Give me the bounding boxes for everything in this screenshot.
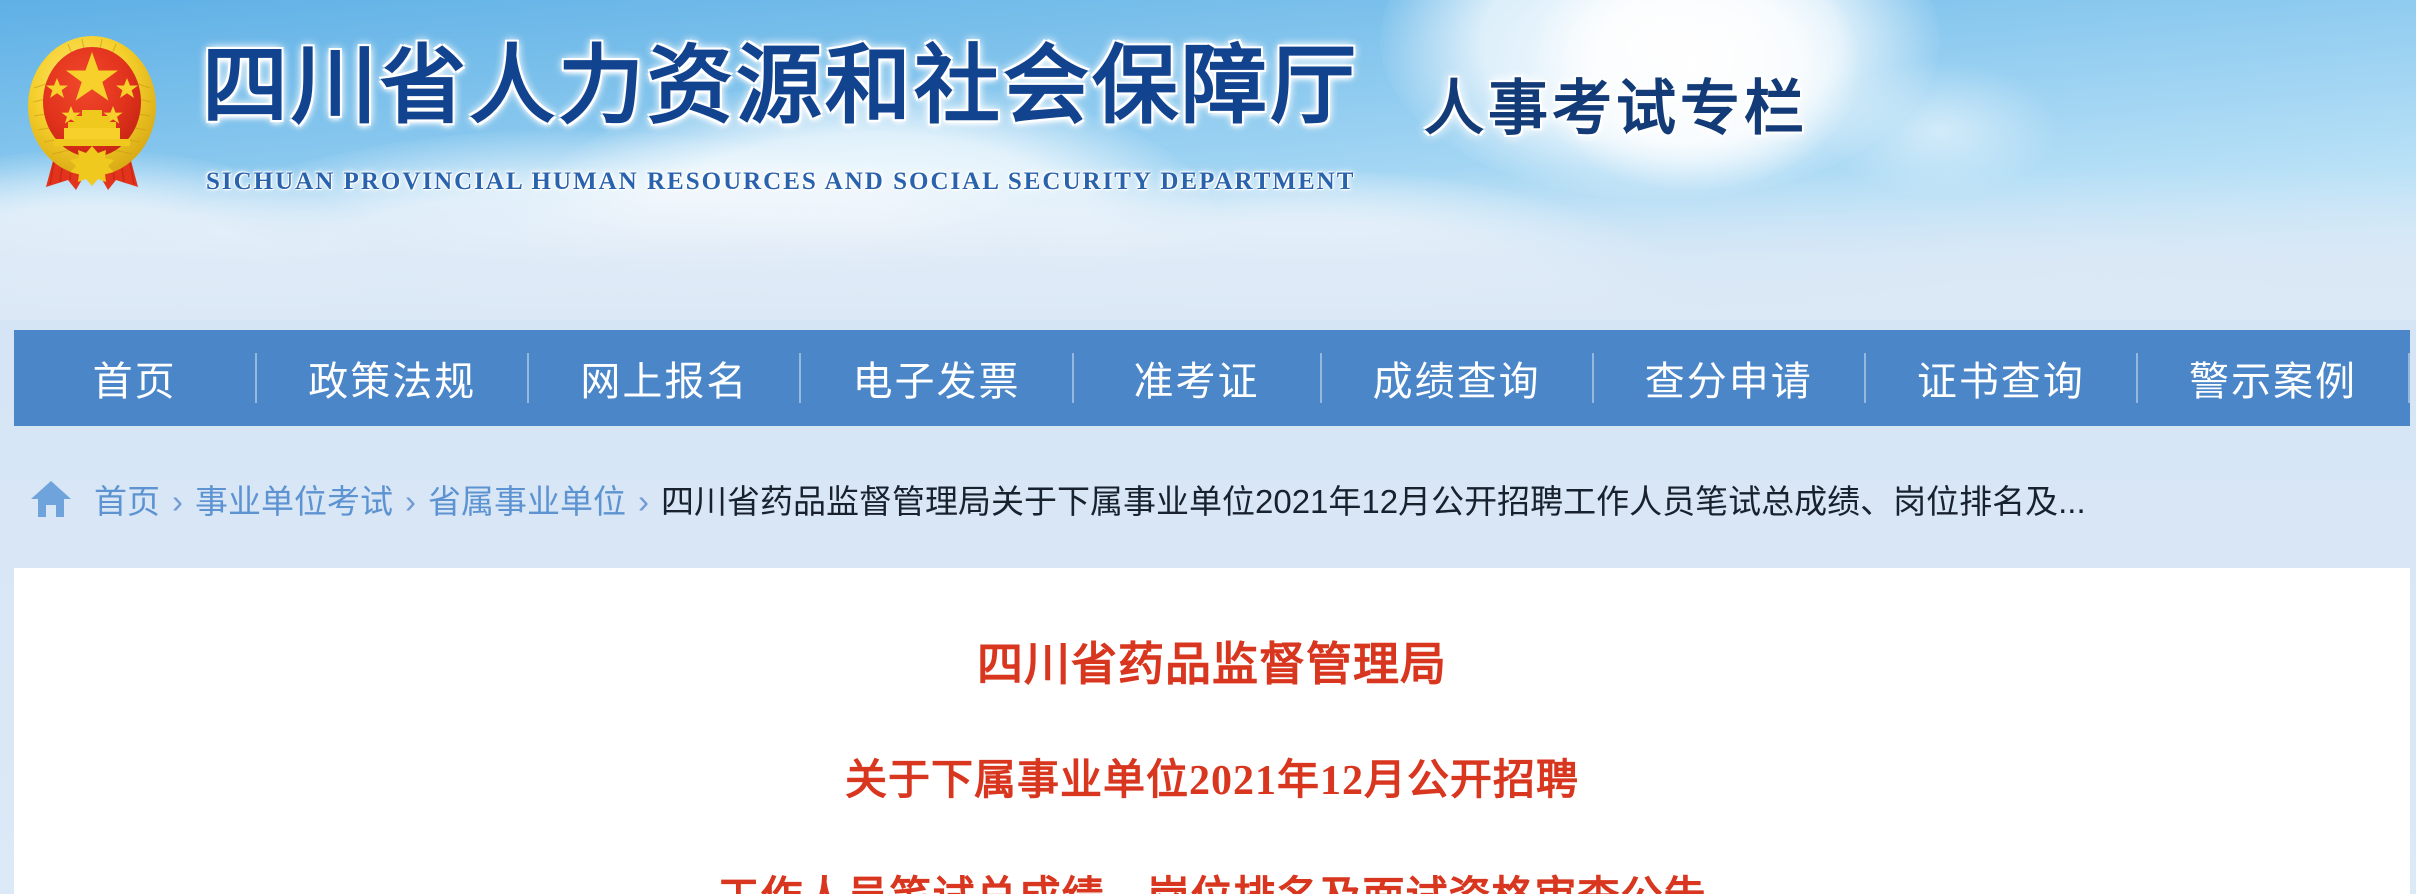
nav-item-6[interactable]: 成绩查询 (1322, 330, 1592, 426)
nav-item-1[interactable]: 首页 (14, 330, 255, 426)
breadcrumb: 首页›事业单位考试›省属事业单位› 四川省药品监督管理局关于下属事业单位2021… (14, 430, 2410, 568)
nav-item-5[interactable]: 准考证 (1074, 330, 1320, 426)
national-emblem-icon (6, 22, 178, 194)
article-content-panel: 四川省药品监督管理局 关于下属事业单位2021年12月公开招聘 工作人员笔试总成… (14, 568, 2410, 894)
breadcrumb-current-page: 四川省药品监督管理局关于下属事业单位2021年12月公开招聘工作人员笔试总成绩、… (661, 475, 2086, 523)
article-title-line-2: 关于下属事业单位2021年12月公开招聘 (14, 746, 2410, 807)
article-title-line-1: 四川省药品监督管理局 (14, 628, 2410, 694)
nav-item-8[interactable]: 证书查询 (1866, 330, 2136, 426)
site-logo-title-zh: 四川省人力资源和社会保障厅 (202, 38, 1359, 134)
nav-item-7[interactable]: 查分申请 (1594, 330, 1864, 426)
nav-item-3[interactable]: 网上报名 (529, 330, 799, 426)
site-logo-title-en: SICHUAN PROVINCIAL HUMAN RESOURCES AND S… (206, 168, 1355, 196)
breadcrumb-link-2[interactable]: 事业单位考试 (195, 483, 393, 520)
nav-item-9[interactable]: 警示案例 (2138, 330, 2408, 426)
breadcrumb-trail: 首页›事业单位考试›省属事业单位› (94, 475, 661, 523)
article-title-line-3: 工作人员笔试总成绩、岗位排名及面试资格审查公告 (14, 863, 2410, 894)
breadcrumb-link-3[interactable]: 省属事业单位 (428, 483, 626, 520)
site-logo-tagline: 人事考试专栏 (1424, 60, 1808, 147)
page-root: 四川省人力资源和社会保障厅 SICHUAN PROVINCIAL HUMAN R… (0, 0, 2416, 894)
nav-item-4[interactable]: 电子发票 (801, 330, 1071, 426)
breadcrumb-separator: › (172, 483, 183, 520)
home-icon[interactable] (30, 479, 72, 519)
breadcrumb-separator: › (405, 483, 416, 520)
nav-separator (2408, 353, 2410, 403)
main-navigation: 首页政策法规网上报名电子发票准考证成绩查询查分申请证书查询警示案例 (14, 330, 2410, 426)
breadcrumb-link-1[interactable]: 首页 (94, 483, 160, 520)
breadcrumb-separator: › (638, 483, 649, 520)
nav-item-2[interactable]: 政策法规 (257, 330, 527, 426)
